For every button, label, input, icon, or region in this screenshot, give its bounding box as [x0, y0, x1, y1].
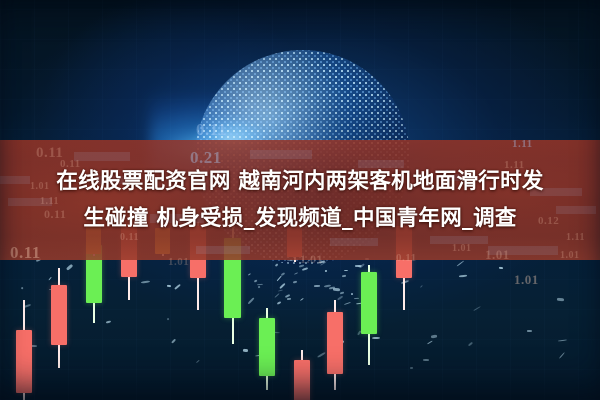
- price-label: 1.01: [514, 272, 539, 288]
- ghost-bar: [250, 150, 312, 159]
- ghost-bar: [74, 152, 130, 161]
- ghost-bar: [330, 238, 378, 246]
- candlestick: [51, 268, 67, 368]
- headline-text: 在线股票配资官网 越南河内两架客机地面滑行时发 生碰撞 机身受损_发现频道_中国…: [0, 163, 600, 237]
- candlestick: [327, 300, 343, 390]
- price-label: 0.11: [196, 120, 227, 140]
- headline-line-1: 在线股票配资官网 越南河内两架客机地面滑行时发: [56, 169, 543, 194]
- price-label: 1.01: [300, 252, 323, 267]
- particle: [459, 274, 468, 277]
- banner-image: 0.110.110.110.111.011.110.110.211.111.11…: [0, 0, 600, 400]
- price-label: 1.01: [485, 247, 510, 263]
- ghost-bar: [196, 246, 250, 254]
- candlestick-body: [327, 312, 343, 374]
- candlestick-body: [51, 285, 67, 345]
- price-label: 0.11: [396, 252, 417, 264]
- candlestick: [259, 308, 275, 390]
- particle: [351, 293, 354, 295]
- price-label: 1.01: [168, 256, 189, 268]
- candlestick-body: [294, 360, 310, 400]
- candlestick-body: [259, 318, 275, 376]
- price-label: 1.01: [560, 250, 580, 261]
- headline-line-2: 生碰撞 机身受损_发现频道_中国青年网_调查: [6, 200, 594, 237]
- candlestick-body: [16, 330, 32, 393]
- candlestick: [361, 265, 377, 365]
- particle: [557, 297, 564, 300]
- price-label: 1.11: [512, 138, 533, 150]
- price-label: 1.01: [452, 243, 472, 254]
- price-label: 0.11: [10, 243, 41, 263]
- candlestick: [16, 300, 32, 400]
- candlestick: [294, 350, 310, 400]
- particle: [342, 274, 347, 276]
- candlestick-body: [361, 272, 377, 334]
- particle: [526, 330, 531, 332]
